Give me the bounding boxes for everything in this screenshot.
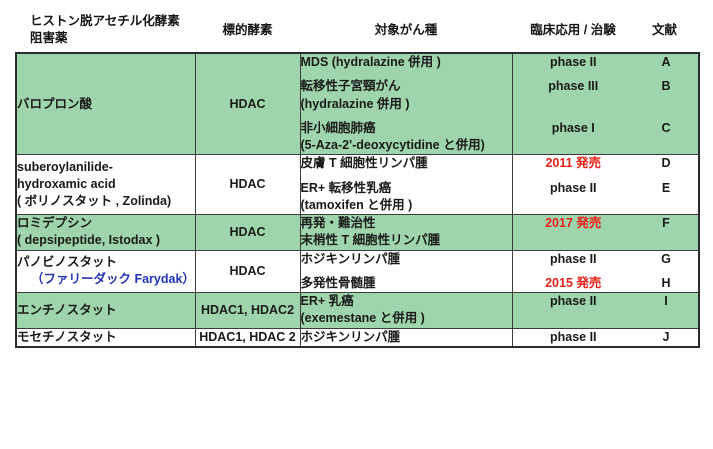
spacer <box>513 232 635 249</box>
drug-name-cell: エンチノスタット <box>16 293 195 329</box>
clinical-trial-cell: 2011 発売phase II <box>512 155 634 215</box>
spacer <box>634 137 698 154</box>
cancer-type-line: 皮膚 T 細胞性リンパ腫 <box>301 155 512 172</box>
cancer-type-line: (hydralazine 併用 ) <box>301 96 512 113</box>
reference-letter: J <box>634 329 698 346</box>
table-header: ヒストン脱アセチル化酵素 阻害薬 標的酵素 対象がん種 臨床応用 / 治験 文献 <box>16 8 699 53</box>
target-enzyme-cell: HDAC1, HDAC 2 <box>195 328 300 347</box>
cancer-type-entry: 非小細胞肺癌(5-Aza-2'-deoxycytidine と併用) <box>301 120 512 155</box>
cancer-type-line: ER+ 乳癌 <box>301 293 512 310</box>
reference-letter: A <box>634 54 698 71</box>
clinical-trial-entry: phase II <box>513 329 635 346</box>
table-row: バロプロン酸HDACMDS (hydralazine 併用 )転移性子宮頸がん(… <box>16 53 699 155</box>
reference-entry: J <box>634 329 698 346</box>
spacer <box>513 197 635 214</box>
drug-name-line: ( depsipeptide, Istodax ) <box>17 232 195 249</box>
drug-name-line: パノビノスタット <box>17 254 195 271</box>
reference-entry: I <box>634 293 698 328</box>
target-enzyme-cell: HDAC <box>195 215 300 251</box>
column-header-drug: ヒストン脱アセチル化酵素 阻害薬 <box>16 8 195 53</box>
spacer <box>634 310 698 327</box>
column-header-reference: 文献 <box>634 8 699 53</box>
cancer-type-entry: ホジキンリンパ腫 <box>301 251 512 268</box>
cancer-type-entry: MDS (hydralazine 併用 ) <box>301 54 512 71</box>
drug-name-line: モセチノスタット <box>17 329 195 346</box>
reference-letter: E <box>634 180 698 197</box>
drug-name-line: （ファリーダック Farydak） <box>17 271 195 288</box>
clinical-trial-entry: phase II <box>513 180 635 215</box>
table-header-row: ヒストン脱アセチル化酵素 阻害薬 標的酵素 対象がん種 臨床応用 / 治験 文献 <box>16 8 699 53</box>
clinical-trial-entry: 2017 発売 <box>513 215 635 250</box>
cancer-type-cell: 再発・難治性末梢性 T 細胞性リンパ腫 <box>300 215 512 251</box>
reference-cell: AB C <box>634 53 699 155</box>
spacer <box>513 96 635 113</box>
clinical-trial-entry: 2011 発売 <box>513 155 635 172</box>
clinical-trial-entry: phase II <box>513 293 635 328</box>
trial-phase-label: phase III <box>513 78 635 95</box>
target-enzyme-cell: HDAC <box>195 155 300 215</box>
launch-status-badge: 2017 発売 <box>513 215 635 232</box>
reference-letter: D <box>634 155 698 172</box>
reference-entry: G <box>634 251 698 268</box>
reference-cell: F <box>634 215 699 251</box>
cancer-type-cell: ホジキンリンパ腫多発性骨髄腫 <box>300 250 512 293</box>
cancer-type-entry: ER+ 転移性乳癌(tamoxifen と併用 ) <box>301 180 512 215</box>
trial-phase-label: phase II <box>513 180 635 197</box>
cancer-type-entry: 多発性骨髄腫 <box>301 275 512 292</box>
reference-letter: H <box>634 275 698 292</box>
cancer-type-line: ホジキンリンパ腫 <box>301 251 512 268</box>
table-row: パノビノスタット（ファリーダック Farydak）HDACホジキンリンパ腫多発性… <box>16 250 699 293</box>
reference-cell: J <box>634 328 699 347</box>
drug-name-cell: suberoylanilide-hydroxamic acid( ボリノスタット… <box>16 155 195 215</box>
clinical-trial-entry: phase III <box>513 78 635 113</box>
target-enzyme-cell: HDAC <box>195 250 300 293</box>
column-header-target-enzyme: 標的酵素 <box>195 8 300 53</box>
drug-name-cell: モセチノスタット <box>16 328 195 347</box>
launch-status-badge: 2015 発売 <box>513 275 635 292</box>
cancer-type-line: 多発性骨髄腫 <box>301 275 512 292</box>
drug-name-line: suberoylanilide- <box>17 159 195 176</box>
cancer-type-entry: 再発・難治性末梢性 T 細胞性リンパ腫 <box>301 215 512 250</box>
table-row: ロミデプシン( depsipeptide, Istodax )HDAC再発・難治… <box>16 215 699 251</box>
drug-name-line: エンチノスタット <box>17 302 195 319</box>
drug-name-cell: パノビノスタット（ファリーダック Farydak） <box>16 250 195 293</box>
clinical-trial-entry: 2015 発売 <box>513 275 635 292</box>
drug-name-line: バロプロン酸 <box>17 96 195 113</box>
column-header-drug-line2: 阻害薬 <box>30 30 195 47</box>
cancer-type-line: (tamoxifen と併用 ) <box>301 197 512 214</box>
reference-entry: E <box>634 180 698 215</box>
cancer-type-line: ER+ 転移性乳癌 <box>301 180 512 197</box>
hdac-inhibitor-table-container: ヒストン脱アセチル化酵素 阻害薬 標的酵素 対象がん種 臨床応用 / 治験 文献… <box>15 8 698 435</box>
cancer-type-line: (exemestane と併用 ) <box>301 310 512 327</box>
cancer-type-entry: 皮膚 T 細胞性リンパ腫 <box>301 155 512 172</box>
cancer-type-line: 転移性子宮頸がん <box>301 78 512 95</box>
table-row: suberoylanilide-hydroxamic acid( ボリノスタット… <box>16 155 699 215</box>
reference-letter: C <box>634 120 698 137</box>
cancer-type-cell: 皮膚 T 細胞性リンパ腫ER+ 転移性乳癌(tamoxifen と併用 ) <box>300 155 512 215</box>
reference-entry: H <box>634 275 698 292</box>
reference-cell: GH <box>634 250 699 293</box>
clinical-trial-cell: phase II <box>512 328 634 347</box>
reference-letter: F <box>634 215 698 232</box>
target-enzyme-cell: HDAC1, HDAC2 <box>195 293 300 329</box>
column-header-clinical-trial: 臨床応用 / 治験 <box>512 8 634 53</box>
reference-entry: B <box>634 78 698 113</box>
column-header-cancer-type: 対象がん種 <box>300 8 512 53</box>
spacer <box>634 197 698 214</box>
table-row: エンチノスタットHDAC1, HDAC2ER+ 乳癌(exemestane と併… <box>16 293 699 329</box>
spacer <box>634 96 698 113</box>
trial-phase-label: phase II <box>513 293 635 310</box>
reference-cell: I <box>634 293 699 329</box>
drug-name-line: ロミデプシン <box>17 215 195 232</box>
cancer-type-cell: ホジキンリンパ腫 <box>300 328 512 347</box>
cancer-type-entry: 転移性子宮頸がん(hydralazine 併用 ) <box>301 78 512 113</box>
hdac-inhibitor-table: ヒストン脱アセチル化酵素 阻害薬 標的酵素 対象がん種 臨床応用 / 治験 文献… <box>15 8 700 348</box>
cancer-type-cell: MDS (hydralazine 併用 )転移性子宮頸がん(hydralazin… <box>300 53 512 155</box>
trial-phase-label: phase II <box>513 329 635 346</box>
drug-name-line: ( ボリノスタット , Zolinda) <box>17 193 195 210</box>
clinical-trial-entry: phase II <box>513 251 635 268</box>
cancer-type-line: (5-Aza-2'-deoxycytidine と併用) <box>301 137 512 154</box>
trial-phase-label: phase II <box>513 54 635 71</box>
cancer-type-line: 再発・難治性 <box>301 215 512 232</box>
column-header-drug-line1: ヒストン脱アセチル化酵素 <box>30 13 195 30</box>
clinical-trial-cell: phase IIphase III phase I <box>512 53 634 155</box>
table-body: バロプロン酸HDACMDS (hydralazine 併用 )転移性子宮頸がん(… <box>16 53 699 347</box>
clinical-trial-cell: 2017 発売 <box>512 215 634 251</box>
cancer-type-entry: ER+ 乳癌(exemestane と併用 ) <box>301 293 512 328</box>
cancer-type-line: 非小細胞肺癌 <box>301 120 512 137</box>
drug-name-cell: バロプロン酸 <box>16 53 195 155</box>
drug-name-line: hydroxamic acid <box>17 176 195 193</box>
table-row: モセチノスタットHDAC1, HDAC 2ホジキンリンパ腫phase IIJ <box>16 328 699 347</box>
clinical-trial-cell: phase II2015 発売 <box>512 250 634 293</box>
clinical-trial-entry: phase I <box>513 120 635 155</box>
reference-letter: G <box>634 251 698 268</box>
trial-phase-label: phase II <box>513 251 635 268</box>
cancer-type-cell: ER+ 乳癌(exemestane と併用 ) <box>300 293 512 329</box>
clinical-trial-cell: phase II <box>512 293 634 329</box>
reference-letter: I <box>634 293 698 310</box>
spacer <box>513 310 635 327</box>
reference-letter: B <box>634 78 698 95</box>
reference-cell: DE <box>634 155 699 215</box>
trial-phase-label: phase I <box>513 120 635 137</box>
spacer <box>634 232 698 249</box>
reference-entry: C <box>634 120 698 155</box>
cancer-type-line: 末梢性 T 細胞性リンパ腫 <box>301 232 512 249</box>
launch-status-badge: 2011 発売 <box>513 155 635 172</box>
cancer-type-line: MDS (hydralazine 併用 ) <box>301 54 512 71</box>
reference-entry: D <box>634 155 698 172</box>
reference-entry: F <box>634 215 698 250</box>
cancer-type-entry: ホジキンリンパ腫 <box>301 329 512 346</box>
reference-entry: A <box>634 54 698 71</box>
target-enzyme-cell: HDAC <box>195 53 300 155</box>
drug-name-cell: ロミデプシン( depsipeptide, Istodax ) <box>16 215 195 251</box>
spacer <box>513 137 635 154</box>
clinical-trial-entry: phase II <box>513 54 635 71</box>
cancer-type-line: ホジキンリンパ腫 <box>301 329 512 346</box>
